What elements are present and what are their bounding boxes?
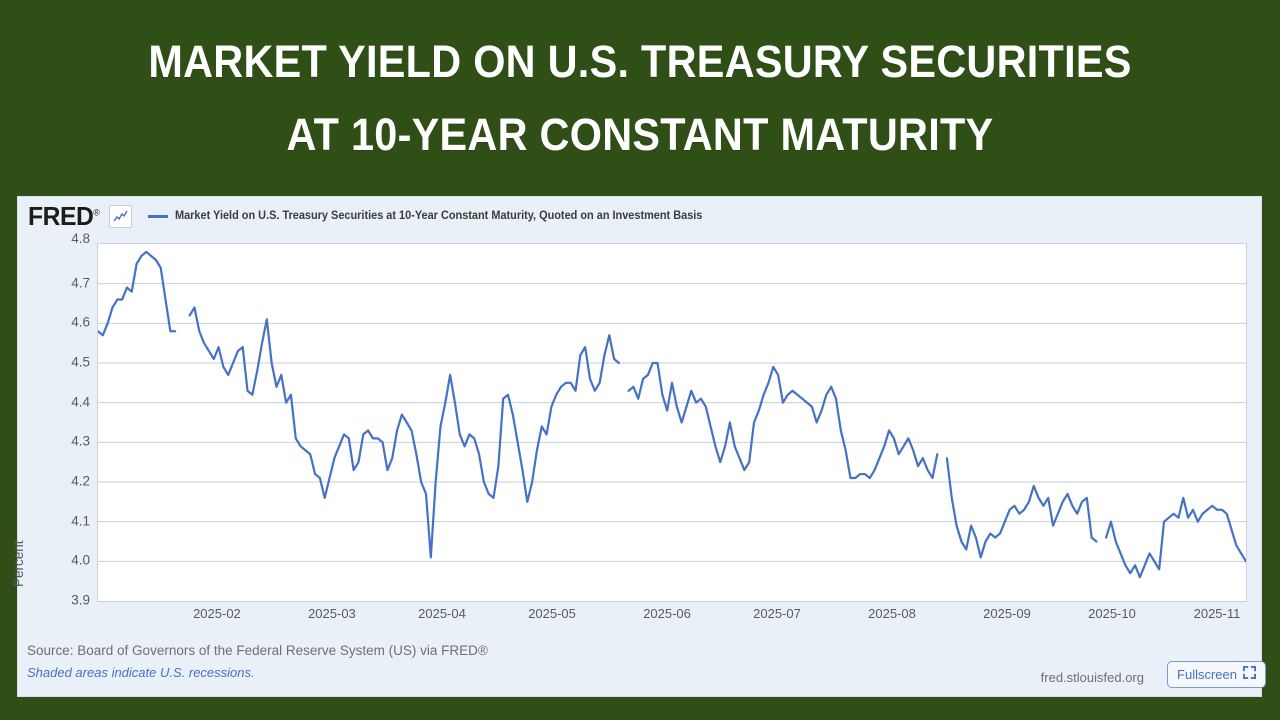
chart-legend: Market Yield on U.S. Treasury Securities… [148,210,730,222]
x-axis-tick: 2025-11 [1194,606,1241,621]
x-axis-tick: 2025-07 [753,606,801,621]
title-line-2: AT 10-YEAR CONSTANT MATURITY [51,99,1229,172]
y-axis-tick: 4.6 [20,315,90,330]
expand-icon [1243,666,1256,684]
x-axis-tick: 2025-09 [983,606,1031,621]
y-axis-ticks: 4.74.64.54.44.34.24.14.03.9 [20,243,90,602]
y-axis-tick: 3.9 [20,593,90,608]
series-path [947,458,1097,557]
fullscreen-label: Fullscreen [1177,667,1237,682]
series-path [629,363,938,478]
x-axis-tick: 2025-08 [868,606,916,621]
series-path [190,307,619,557]
y-axis-tick: 4.0 [20,553,90,568]
fred-logo-text: FRED [28,201,93,231]
plot-area[interactable] [97,243,1247,602]
fred-registered-mark: ® [93,207,99,217]
y-axis-tick: 4.4 [20,394,90,409]
line-chart-icon [109,205,132,228]
x-axis-tick: 2025-10 [1088,606,1136,621]
y-axis-tick: 4.5 [20,355,90,370]
plot-wrapper [97,243,1247,602]
source-note: Source: Board of Governors of the Federa… [27,643,488,658]
legend-series-label: Market Yield on U.S. Treasury Securities… [175,210,702,222]
fred-logo: FRED® [28,203,99,229]
page-title: MARKET YIELD ON U.S. TREASURY SECURITIES… [51,0,1229,172]
fred-url-label: fred.stlouisfed.org [1041,670,1144,685]
fullscreen-button[interactable]: Fullscreen [1167,661,1266,688]
recession-note[interactable]: Shaded areas indicate U.S. recessions. [27,665,255,680]
y-axis-tick: 4.2 [20,474,90,489]
series-path [98,252,175,335]
x-axis-tick: 2025-05 [528,606,576,621]
y-axis-tick: 4.7 [20,275,90,290]
y-axis-tick: 4.1 [20,513,90,528]
x-axis-tick: 2025-02 [193,606,241,621]
chart-header: FRED® Market Yield on U.S. Treasury Secu… [28,202,730,230]
x-axis-tick: 2025-03 [308,606,356,621]
legend-color-swatch [148,215,168,218]
x-axis-ticks: 2025-022025-032025-042025-052025-062025-… [97,606,1247,626]
y-axis-tick: 4.3 [20,434,90,449]
title-line-1: MARKET YIELD ON U.S. TREASURY SECURITIES [51,26,1229,99]
x-axis-tick: 2025-04 [418,606,466,621]
series-line-chart [98,244,1246,601]
x-axis-tick: 2025-06 [643,606,691,621]
series-path [1106,498,1246,577]
